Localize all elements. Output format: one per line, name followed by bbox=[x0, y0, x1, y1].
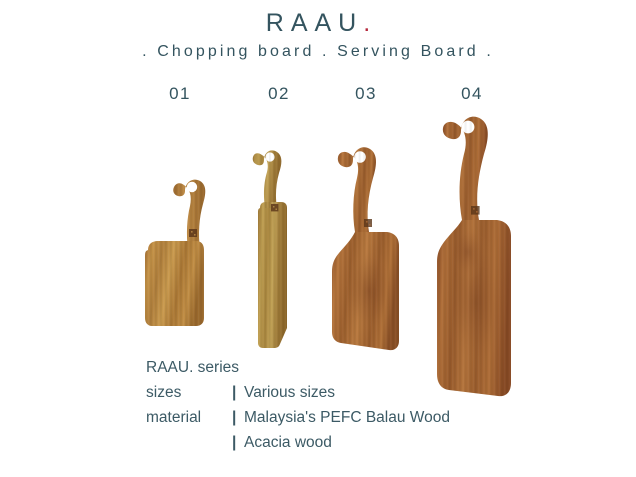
spec-key-material: material bbox=[146, 405, 232, 430]
brand-stamp-detail bbox=[366, 221, 368, 223]
board-03-body-grain bbox=[332, 232, 399, 350]
spec-separator: | bbox=[232, 405, 244, 430]
product-spec-block: RAAU. series sizes | Various sizes mater… bbox=[146, 355, 450, 455]
brand-stamp-detail bbox=[369, 224, 371, 226]
brand-stamp-icon bbox=[271, 204, 278, 211]
spec-value-material-secondary: Acacia wood bbox=[244, 430, 332, 455]
brand-stamp-detail bbox=[191, 231, 193, 233]
product-number-03: 03 bbox=[336, 84, 396, 104]
board-image-03[interactable] bbox=[325, 136, 411, 360]
spec-series-label: RAAU. series bbox=[146, 355, 239, 380]
brand-stamp-icon bbox=[189, 229, 197, 237]
brand-title: RAAU. bbox=[0, 9, 636, 38]
spec-row-material: material | Malaysia's PEFC Balau Wood bbox=[146, 405, 450, 430]
brand-stamp-detail bbox=[276, 209, 278, 211]
board-01-body-grain bbox=[145, 241, 204, 326]
brand-stamp-detail bbox=[476, 211, 478, 213]
brand-name: RAAU bbox=[266, 9, 363, 37]
board-image-01[interactable] bbox=[140, 172, 222, 328]
brand-stamp-icon bbox=[471, 206, 480, 215]
spec-value-sizes: Various sizes bbox=[244, 380, 335, 405]
board-image-02[interactable] bbox=[247, 142, 307, 352]
board-01-hang-hole bbox=[187, 182, 197, 192]
spec-value-material-primary: Malaysia's PEFC Balau Wood bbox=[244, 405, 450, 430]
product-number-01: 01 bbox=[150, 84, 210, 104]
brand-stamp-detail bbox=[473, 208, 475, 210]
spec-separator: | bbox=[232, 380, 244, 405]
spec-separator: | bbox=[232, 430, 244, 455]
brand-stamp-icon bbox=[364, 219, 372, 227]
spec-row-material-secondary: | Acacia wood bbox=[146, 430, 450, 455]
product-showcase: RAAU. . Chopping board . Serving Board .… bbox=[0, 0, 636, 477]
board-02-handle-grain bbox=[253, 150, 282, 208]
spec-series-row: RAAU. series bbox=[146, 355, 450, 380]
board-04-handle-grain bbox=[443, 117, 488, 220]
brand-stamp-detail bbox=[194, 234, 196, 236]
brand-accent-dot: . bbox=[363, 9, 370, 37]
page-subtitle: . Chopping board . Serving Board . bbox=[0, 43, 636, 61]
spec-row-sizes: sizes | Various sizes bbox=[146, 380, 450, 405]
board-02-body-grain bbox=[258, 202, 287, 348]
product-number-04: 04 bbox=[442, 84, 502, 104]
spec-key-sizes: sizes bbox=[146, 380, 232, 405]
product-number-02: 02 bbox=[249, 84, 309, 104]
brand-stamp-detail bbox=[273, 206, 275, 208]
